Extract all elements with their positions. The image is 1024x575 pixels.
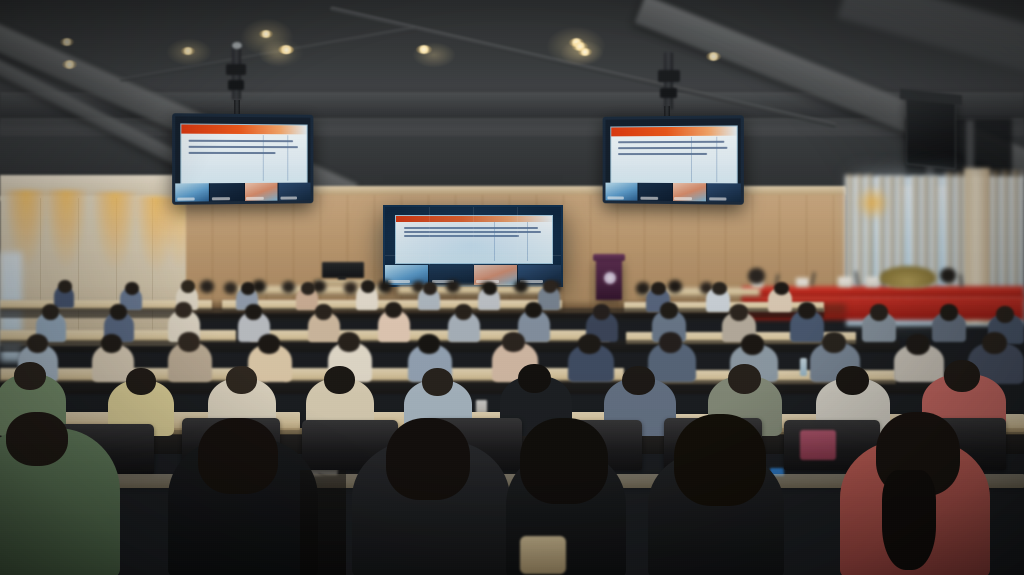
audience-head-a1 [58,280,72,293]
audience-head-d4 [324,366,355,394]
audience-head-f1 [200,280,214,293]
overhead-monitor-right[interactable] [603,115,744,205]
camera-body-right [660,88,677,98]
audience-head-c12 [906,334,930,355]
audience-head-d10 [944,360,980,392]
audience-head-c7 [502,332,525,352]
audience-head-b5 [315,304,332,320]
audience-head-a6 [361,280,375,293]
audience-head-d2 [126,368,156,395]
audience-head-b13 [870,304,888,321]
vc-pane-3 [474,265,517,285]
camera-head-right [658,70,680,82]
water-bottle [800,358,807,376]
audience-head-b11 [730,304,748,321]
audience-head-c8 [578,334,601,354]
main-conference-strip [385,265,561,285]
overhead-monitor-left[interactable] [172,113,313,205]
audience-head-f9 [446,280,460,293]
name-card-3 [866,277,879,287]
camera-lens-left [232,42,242,49]
audience-head-a2 [125,282,139,295]
floral-arrangement [880,266,936,288]
audience-head-b12 [798,302,816,319]
audience-head-b9 [593,304,610,320]
overhead-left-conference-strip [175,182,310,202]
fg-person-green-head [6,412,68,466]
audience-head-b14 [940,304,958,321]
audience-head-f6 [344,282,357,294]
audience-head-f4 [282,281,295,293]
overhead-left-slide [181,123,307,185]
audience-head-c13 [982,332,1007,354]
audience-head-b1 [42,304,59,320]
audience-head-b2 [110,304,127,320]
ceiling-panel-right [838,0,1024,73]
downlight-1 [259,30,273,38]
fg-person-dark-hair-3 [520,418,608,504]
fg-person-dark-hair-1 [198,418,278,494]
audience-head-d3 [226,366,257,394]
audience-head-d1 [14,362,46,390]
institution-emblem [604,272,616,284]
vc-pane-2 [210,183,243,202]
beam-downlight-b [578,48,592,56]
audience-head-c5 [338,332,360,352]
audience-head-c4 [258,334,280,354]
vc-pane-4 [707,183,741,202]
audience-head-a9 [543,280,557,293]
audience-head-a5 [301,282,315,295]
overhead-right-slide-header [612,126,737,136]
name-card-2 [838,277,852,287]
audience-head-c3 [178,332,200,352]
vc-pane-1 [175,183,209,202]
overhead-right-slide [611,125,738,185]
vc-pane-2 [639,183,672,201]
fg-person-dark-hair-4 [674,414,766,506]
lectern-top [593,254,625,261]
audience-head-a4 [241,282,255,295]
audience-head-d8 [728,364,761,394]
led-video-wall[interactable] [383,205,563,287]
camera-head-left [226,64,246,75]
name-card-1 [796,278,809,287]
right-wall-glow [856,186,890,220]
vc-pane-4 [278,182,310,201]
audience-head-c2 [101,334,122,353]
audience-head-a7 [423,282,437,295]
overhead-left-slide-header [182,124,306,134]
audience-head-a10 [651,282,666,295]
vc-pane-3 [244,182,277,201]
downlight-6 [62,60,77,69]
audience-head-a11 [712,282,727,295]
audience-head-d7 [622,366,655,395]
audience-head-b10 [660,302,678,319]
vc-pane-1 [605,183,637,201]
ceiling-speaker-right [906,92,956,169]
head-table-person-2-head [940,268,956,283]
audience-head-c6 [418,334,440,354]
audience-head-d5 [422,368,453,396]
audience-head-f7 [378,280,392,293]
audience-head-b6 [385,302,402,318]
audience-head-c9 [659,332,682,353]
fg-person-dark-hair-2 [386,418,470,500]
audience-head-b3 [175,302,192,318]
vc-pane-3 [672,183,705,201]
audience-head-f14 [668,280,682,293]
beam-downlight-halo-d [166,38,212,66]
wall-wash-3 [92,192,138,270]
audience-head-c1 [27,334,48,353]
audience-head-a3 [181,280,195,293]
beam-downlight-a [279,46,294,54]
beam-downlight-halo-c [412,42,456,68]
audience-head-b4 [245,304,262,320]
head-table-person-1-head [748,268,765,284]
conference-hall-photo [0,0,1024,575]
audience-head-d6 [518,364,551,393]
audience-head-a8 [483,282,497,295]
downlight-7 [706,52,721,61]
overhead-right-conference-strip [605,183,740,202]
audience-head-b7 [455,304,472,320]
aisle-shadow [300,470,346,575]
audience-head-c10 [741,334,764,355]
audience-head-a12 [774,282,789,295]
camera-body-left [228,80,244,90]
audience-head-d9 [836,366,869,395]
tote-bag [520,536,566,574]
handbag [800,430,836,460]
audience-head-c11 [822,332,846,353]
audience-head-f11 [514,280,528,293]
ceiling [0,0,1024,200]
audience-head-b15 [996,306,1014,323]
audience-head-f2 [224,282,237,294]
fg-person-red-ponytail [882,470,936,570]
beam-downlight-c [60,38,74,46]
audience-head-b8 [525,302,542,318]
wall-wash-2 [44,190,88,268]
